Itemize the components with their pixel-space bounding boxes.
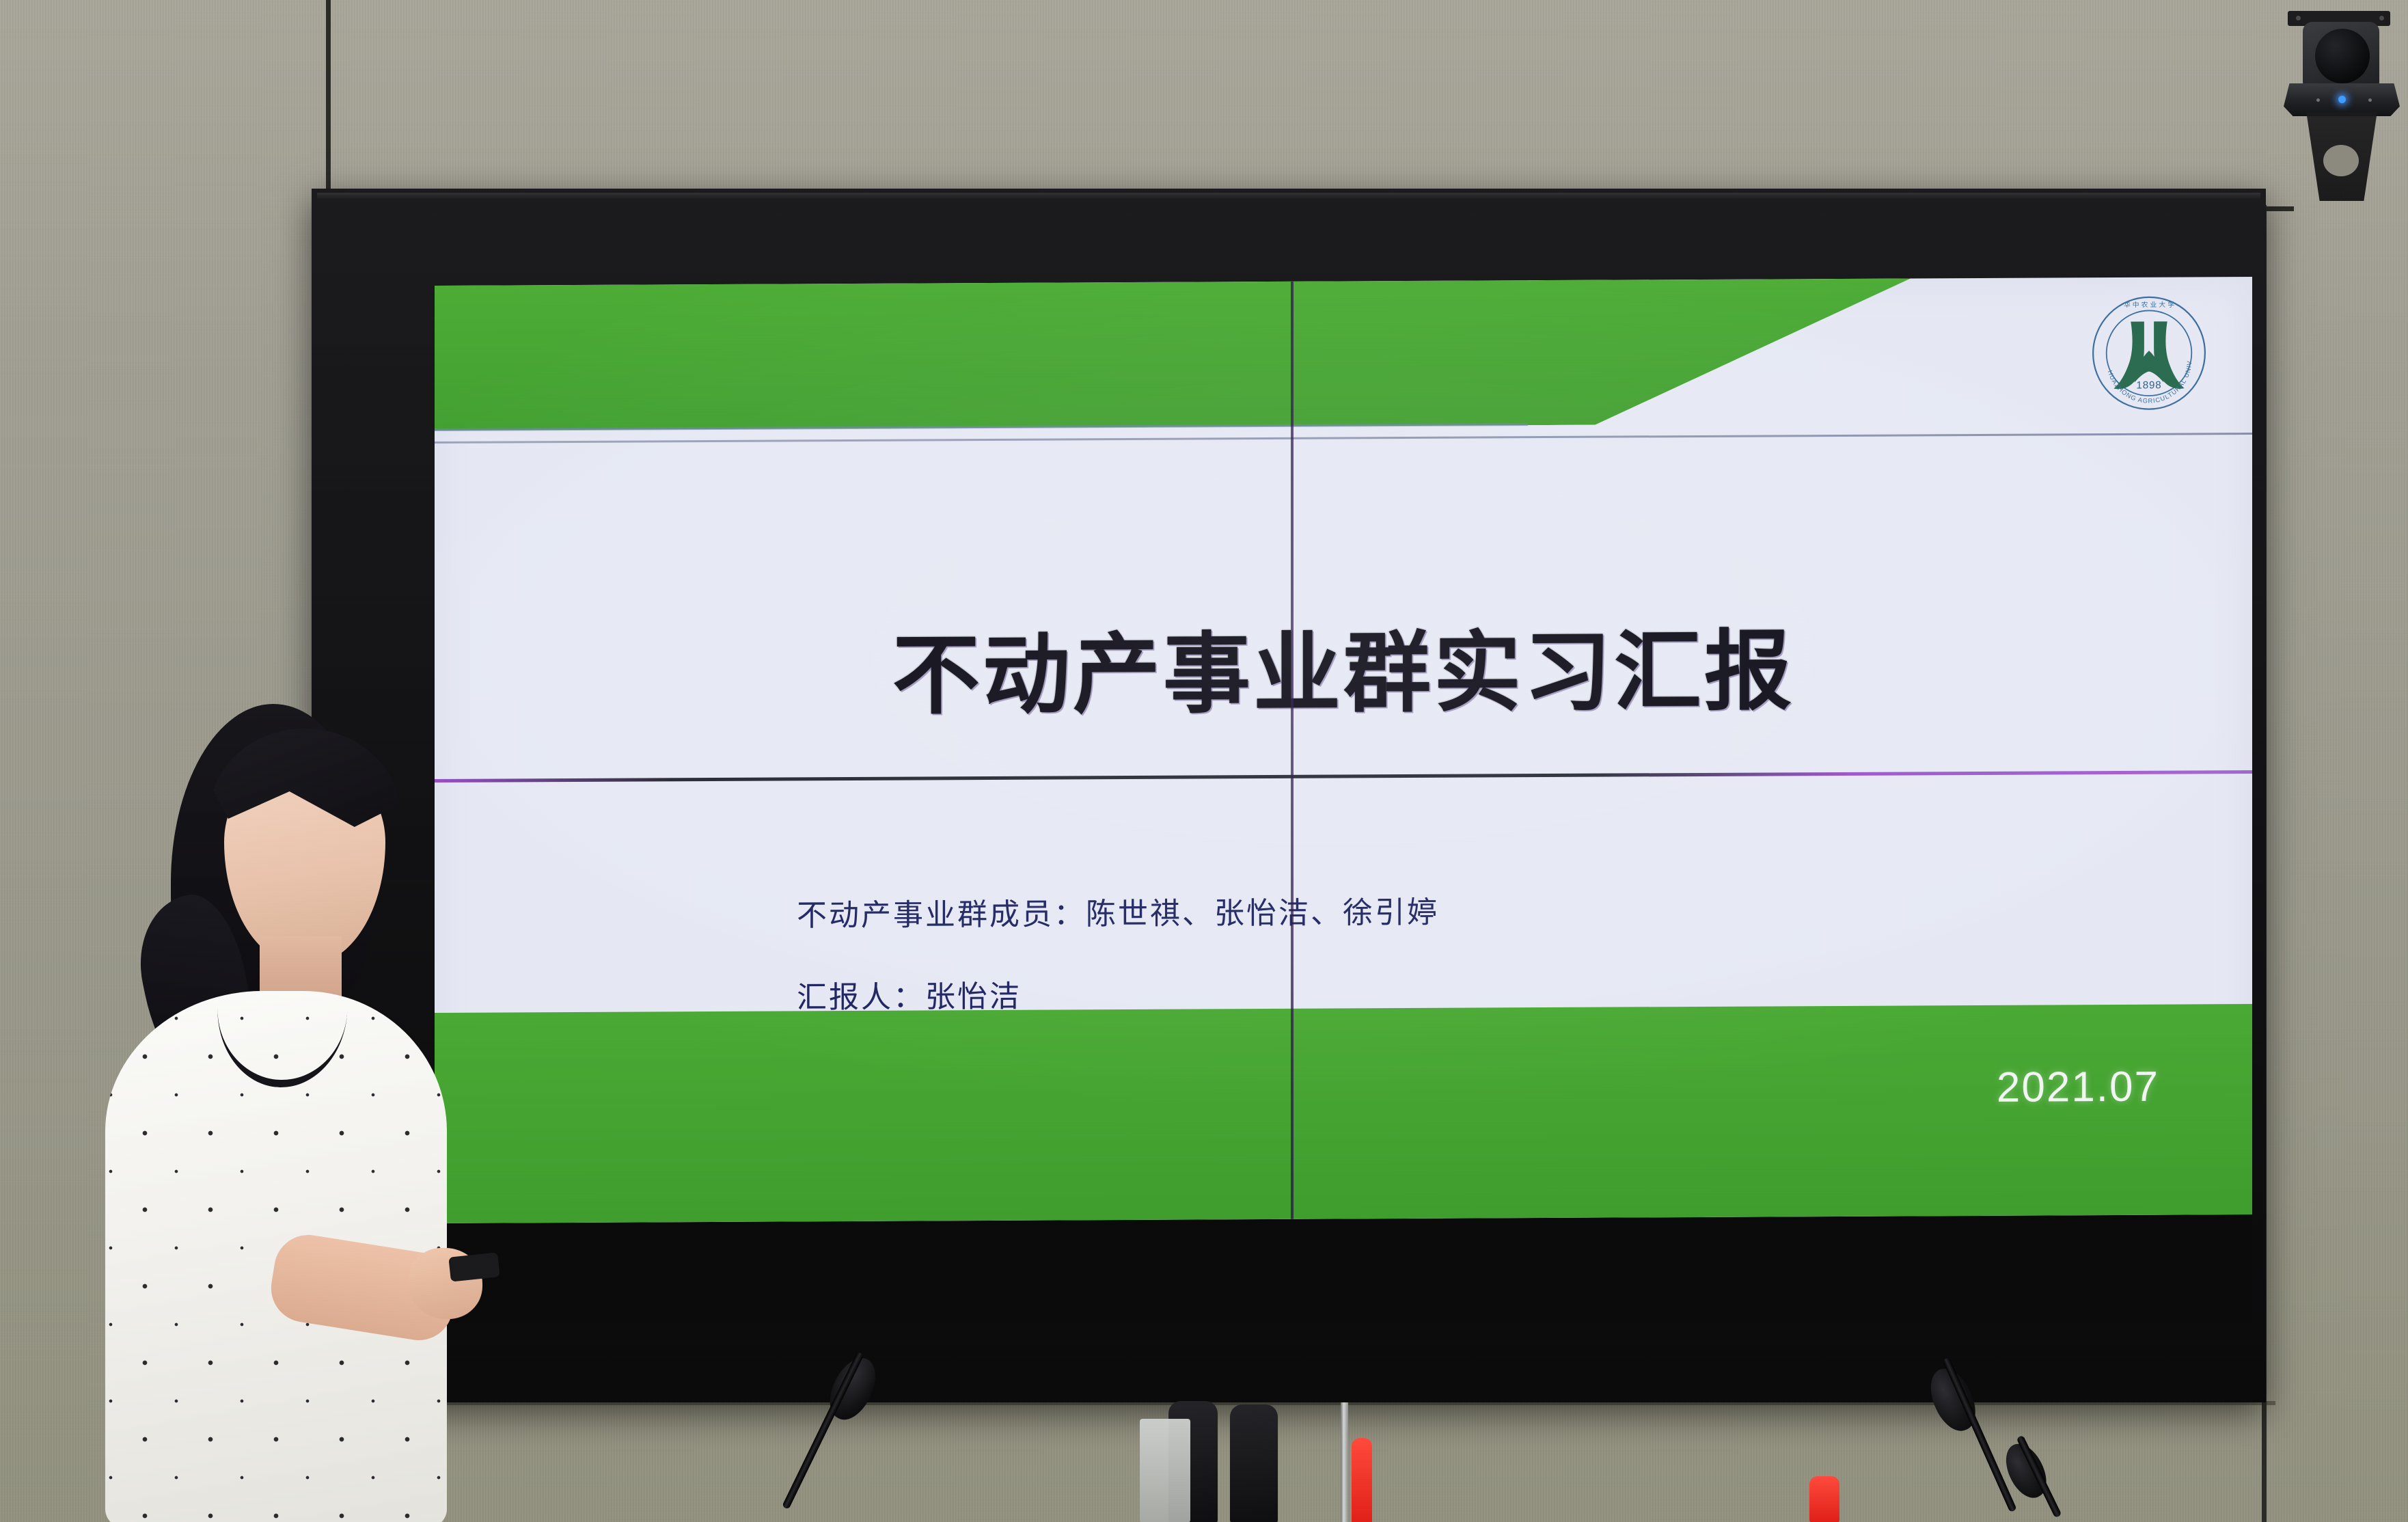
camera-power-led	[2338, 96, 2346, 103]
video-wall-seam-upper	[435, 433, 2252, 444]
presentation-slide[interactable]: 1898 华 中 农 业 大 学 HUAZHONG AGRICULTURAL U…	[435, 277, 2252, 1223]
desk-object-black	[1230, 1404, 1278, 1522]
slide-bottom-green-banner	[435, 1004, 2252, 1223]
video-wall-seam-horizontal	[435, 770, 2252, 783]
slide-top-green-banner	[435, 280, 1528, 431]
desk-flag-red	[1352, 1438, 1372, 1522]
slide-title: 不动产事业群实习汇报	[435, 598, 2252, 733]
camera-mount-cutout	[2323, 145, 2359, 176]
camera-screw	[2296, 16, 2301, 21]
camera-lens-icon	[2315, 29, 2370, 83]
svg-text:华 中 农 业 大 学: 华 中 农 业 大 学	[2124, 300, 2174, 309]
room-scene: 1898 华 中 农 业 大 学 HUAZHONG AGRICULTURAL U…	[0, 0, 2408, 1522]
flag-pole	[1341, 1402, 1348, 1522]
camera-screw	[2379, 16, 2384, 21]
gooseneck-microphone	[813, 1356, 1168, 1522]
gooseneck-microphone	[1893, 1439, 2111, 1522]
university-logo-icon: 1898 华 中 农 业 大 学 HUAZHONG AGRICULTURAL U…	[2088, 292, 2210, 414]
bezel-highlight	[317, 193, 2260, 200]
svg-text:1898: 1898	[2136, 379, 2161, 391]
slide-date-label: 2021.07	[1997, 1063, 2159, 1112]
presentation-clicker	[448, 1252, 500, 1281]
ptz-camera	[2273, 11, 2408, 202]
wall-groove-vertical-left	[326, 0, 331, 210]
slide-subtitle-members: 不动产事业群成员：陈世祺、张怡洁、徐引婷	[797, 888, 1439, 935]
camera-indicator-dot	[2316, 98, 2320, 102]
camera-indicator-dot	[2368, 98, 2372, 102]
slide-top-green-wedge	[1501, 278, 1911, 425]
presenter-person	[89, 697, 471, 1522]
